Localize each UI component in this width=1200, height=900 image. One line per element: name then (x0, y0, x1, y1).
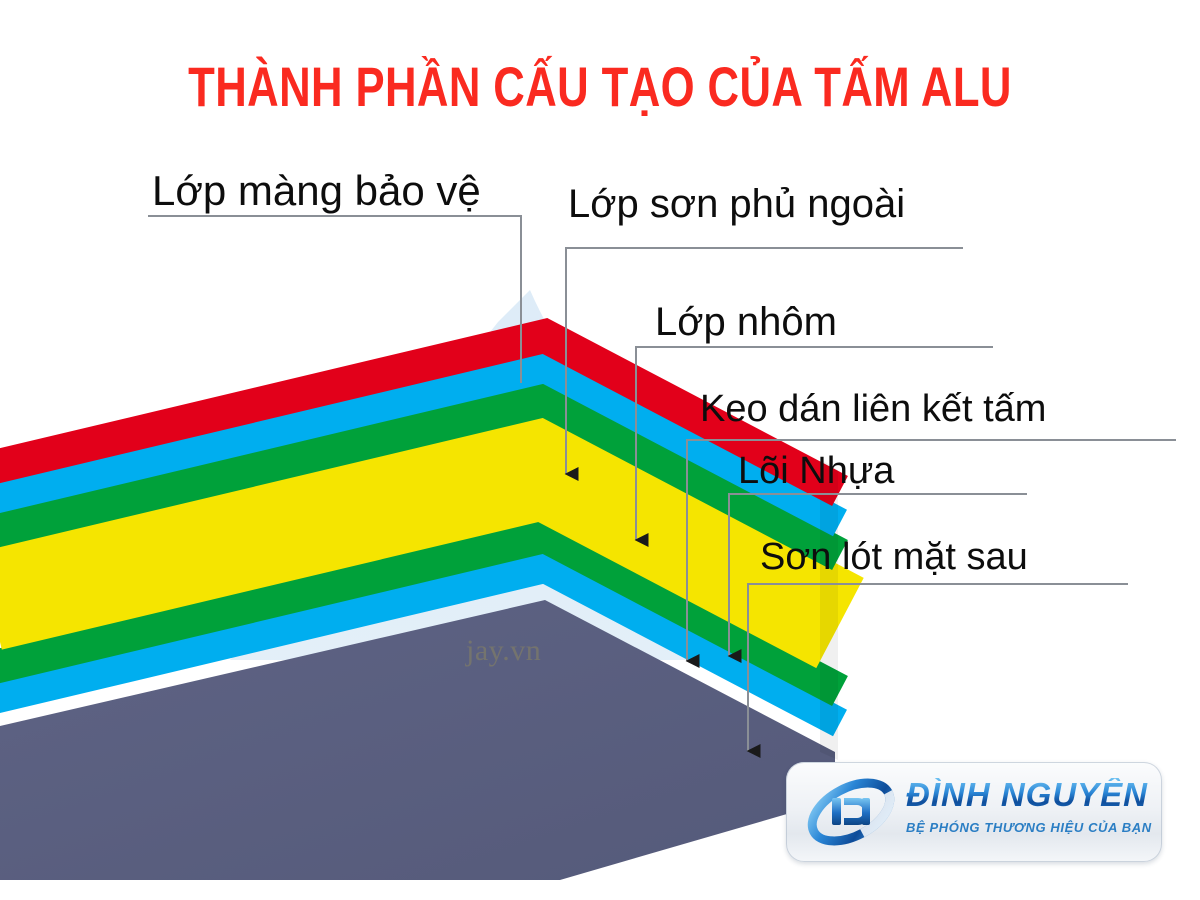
label-back-primer[interactable]: Sơn lót mặt sau (760, 538, 1028, 576)
page-title: THÀNH PHẦN CẤU TẠO CỦA TẤM ALU (132, 58, 1068, 117)
watermark: jay.vn (466, 634, 541, 668)
logo-text-block: ĐÌNH NGUYÊN BỆ PHÓNG THƯƠNG HIỆU CỦA BẠN (906, 778, 1152, 835)
logo-company-name: ĐÌNH NGUYÊN (906, 778, 1152, 813)
label-plastic-core[interactable]: Lõi Nhựa (738, 452, 894, 490)
panel-cut-edge (820, 459, 838, 760)
label-outer-coating[interactable]: Lớp sơn phủ ngoài (568, 184, 905, 224)
logo-tagline: BỆ PHÓNG THƯƠNG HIỆU CỦA BẠN (906, 820, 1152, 835)
label-aluminium-layer[interactable]: Lớp nhôm (655, 302, 837, 342)
company-logo-badge[interactable]: ĐÌNH NGUYÊN BỆ PHÓNG THƯƠNG HIỆU CỦA BẠN (786, 762, 1162, 862)
label-bonding-adhesive[interactable]: Keo dán liên kết tấm (700, 390, 1046, 428)
infographic-canvas: THÀNH PHẦN CẤU TẠO CỦA TẤM ALU Lớp màng … (0, 0, 1200, 900)
label-protective-film[interactable]: Lớp màng bảo vệ (152, 170, 481, 212)
logo-monogram-icon (796, 762, 906, 862)
